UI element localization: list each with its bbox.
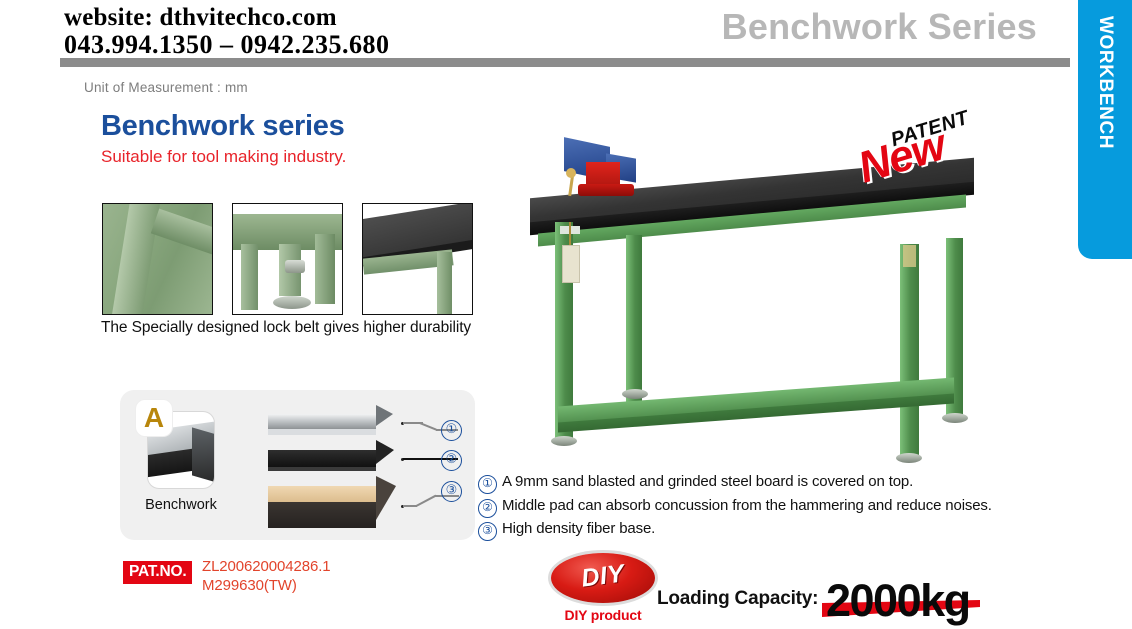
list-item: ② Middle pad can absorb concussion from … bbox=[478, 497, 1038, 518]
patent-number: M299630(TW) bbox=[202, 576, 331, 595]
bench-hang-tag bbox=[562, 245, 580, 283]
patent-number-values: ZL200620004286.1 M299630(TW) bbox=[202, 557, 331, 595]
list-item-text: A 9mm sand blasted and grinded steel boa… bbox=[502, 473, 913, 491]
slab-side-face bbox=[376, 476, 396, 520]
photo-leveling-foot bbox=[273, 296, 311, 309]
website-line: website: dthvitechco.com bbox=[64, 4, 390, 31]
callout-number: ③ bbox=[441, 481, 462, 502]
series-title: Benchwork Series bbox=[722, 6, 1037, 48]
list-item-number: ② bbox=[478, 499, 497, 518]
new-patent-badge: PATENT New bbox=[858, 112, 1013, 192]
loading-capacity-label: Loading Capacity: bbox=[657, 588, 818, 610]
catalog-page: website: dthvitechco.com 043.994.1350 – … bbox=[0, 0, 1132, 629]
sidebar-tab-workbench[interactable]: WORKBENCH bbox=[1078, 0, 1132, 259]
bench-leveling-foot bbox=[551, 436, 577, 446]
feature-description-list: ① A 9mm sand blasted and grinded steel b… bbox=[478, 473, 1038, 544]
gallery-caption: The Specially designed lock belt gives h… bbox=[101, 319, 471, 337]
slab-edge bbox=[268, 467, 376, 471]
layer-slab-pad bbox=[268, 450, 392, 474]
page-title: Benchwork series bbox=[101, 110, 344, 143]
callout-line bbox=[416, 495, 436, 507]
detail-photo-gallery bbox=[102, 203, 473, 315]
slab-top-face bbox=[268, 414, 376, 429]
sidebar-tab-label: WORKBENCH bbox=[1078, 0, 1132, 259]
patent-number-badge: PAT.NO. bbox=[123, 561, 192, 584]
layer-panel-product-label: Benchwork bbox=[132, 497, 230, 513]
list-item: ① A 9mm sand blasted and grinded steel b… bbox=[478, 473, 1038, 494]
photo-corner-leg bbox=[437, 252, 452, 315]
gusset-detail-photo bbox=[102, 203, 213, 315]
table-top-corner-photo bbox=[362, 203, 473, 315]
bench-leg-front-right bbox=[900, 244, 919, 456]
bench-vise bbox=[560, 142, 646, 194]
photo-leg-right bbox=[315, 234, 335, 304]
header-divider-bar bbox=[60, 58, 1070, 67]
callout-number: ② bbox=[441, 450, 462, 471]
diy-product-badge: DIY DIY product bbox=[548, 553, 658, 623]
vise-knob bbox=[566, 168, 576, 178]
diy-logo-icon: DIY bbox=[551, 553, 655, 603]
slab-side-face bbox=[376, 405, 393, 426]
callout-number: ① bbox=[441, 420, 462, 441]
diy-logo-text: DIY bbox=[550, 556, 657, 597]
new-badge-text: New bbox=[853, 120, 951, 193]
slab-edge bbox=[268, 429, 376, 435]
bench-leveling-foot bbox=[896, 453, 922, 463]
callout-line bbox=[403, 505, 417, 507]
vise-base-plate bbox=[578, 184, 634, 196]
variant-badge-a: A bbox=[136, 400, 172, 436]
photo-leg-left bbox=[241, 244, 258, 310]
photo-lock-bolt bbox=[285, 260, 305, 273]
list-item-number: ③ bbox=[478, 522, 497, 541]
bench-leveling-foot bbox=[942, 413, 968, 423]
layer-slab-fiber-base bbox=[268, 486, 398, 530]
bench-leg-back-left bbox=[626, 235, 642, 407]
loading-capacity-value: 2000kg bbox=[826, 575, 970, 627]
leveling-foot-lock-belt-photo bbox=[232, 203, 343, 315]
layer-construction-panel: A Benchwork ① ② bbox=[120, 390, 475, 540]
slab-body bbox=[268, 502, 376, 528]
slab-top-face bbox=[268, 486, 376, 502]
bench-leveling-foot bbox=[622, 389, 648, 399]
callout-line bbox=[419, 422, 436, 430]
corner-side-face bbox=[192, 427, 214, 484]
bench-label-sticker bbox=[903, 245, 916, 267]
slab-side-face bbox=[376, 440, 394, 464]
diy-caption: DIY product bbox=[548, 607, 658, 623]
patent-number: ZL200620004286.1 bbox=[202, 557, 331, 576]
list-item-text: High density fiber base. bbox=[502, 520, 655, 538]
list-item: ③ High density fiber base. bbox=[478, 520, 1038, 541]
list-item-number: ① bbox=[478, 475, 497, 494]
phone-line: 043.994.1350 – 0942.235.680 bbox=[64, 31, 390, 58]
unit-of-measurement-label: Unit of Measurement : mm bbox=[84, 80, 248, 95]
layer-slab-steel bbox=[268, 414, 392, 438]
slab-top-face bbox=[268, 450, 376, 467]
website-contact-header: website: dthvitechco.com 043.994.1350 – … bbox=[64, 4, 390, 58]
list-item-text: Middle pad can absorb concussion from th… bbox=[502, 497, 992, 515]
page-subtitle: Suitable for tool making industry. bbox=[101, 147, 346, 167]
